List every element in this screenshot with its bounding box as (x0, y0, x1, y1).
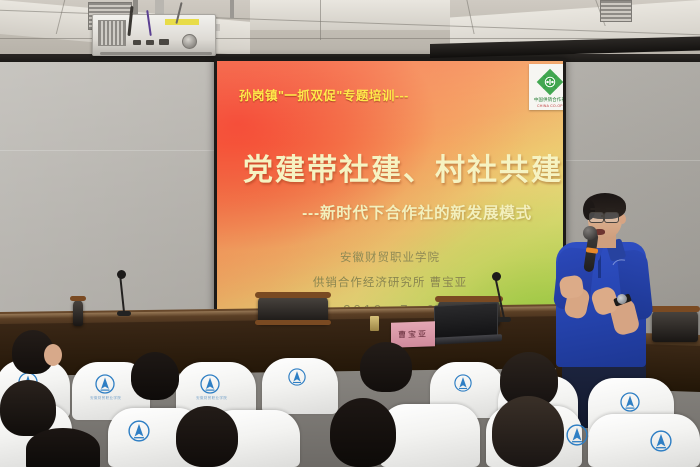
university-emblem-icon (200, 374, 220, 394)
university-emblem-icon (128, 420, 150, 442)
projector-vent-grill (98, 20, 126, 46)
table-chair-frame (255, 320, 331, 325)
attendee-head (0, 380, 56, 436)
ceiling-panel (250, 0, 450, 30)
attendee-head (176, 406, 238, 467)
logo-english-text: CHINA CO-OP (529, 104, 563, 108)
attendee-head (360, 342, 412, 392)
university-emblem-icon (566, 424, 588, 446)
projector-bar (100, 52, 212, 55)
conference-room-photo: 孙岗镇"一抓双促"专题培训--- 党建带社建、村社共建 ---新时代下合作社的新… (0, 0, 700, 467)
slide-title-text: 党建带社建、村社共建 (243, 145, 543, 189)
projector-port (159, 39, 169, 45)
projector-lens (182, 34, 197, 49)
mic-capsule (117, 270, 126, 279)
table-chair-frame (435, 296, 503, 302)
attendee-head (492, 396, 564, 467)
ceiling-bracket (230, 0, 234, 18)
wall-seam (0, 150, 215, 151)
eyeglasses-lens-left (589, 212, 604, 223)
slide-department-text: 供销合作经济研究所 曹宝亚 (217, 274, 563, 290)
chair-cover (262, 358, 338, 414)
attendee-face (44, 344, 62, 366)
projector-label (165, 19, 199, 25)
chair-cover (588, 414, 700, 467)
china-coop-emblem-icon (536, 68, 563, 96)
projector-port (133, 40, 141, 45)
table-chair-frame (70, 296, 86, 301)
attendee-head (26, 428, 100, 467)
eyeglasses-bridge (601, 215, 605, 217)
table-chair-frame (648, 306, 700, 312)
table-chair-frame (255, 292, 331, 298)
eyeglasses-lens-right (604, 212, 619, 223)
ceiling-grid-line (320, 0, 321, 40)
table-chair (73, 300, 83, 326)
attendee-head (131, 352, 179, 400)
university-emblem-icon (650, 430, 672, 452)
slide-header-text: 孙岗镇"一抓双促"专题培训--- (239, 85, 409, 104)
university-emblem-icon (95, 374, 115, 394)
table-chair (652, 310, 698, 342)
slide-subtitle-text: ---新时代下合作社的新发展模式 (277, 201, 557, 223)
university-emblem-icon (288, 368, 306, 386)
university-emblem-icon (454, 374, 472, 392)
logo-chinese-text: 中国供销合作社 (529, 97, 563, 103)
slide-organization-text: 安徽财贸职业学院 (217, 249, 563, 265)
air-vent (600, 0, 632, 22)
mic-capsule (492, 272, 501, 281)
attendee-head (330, 398, 396, 467)
water-cup (370, 316, 379, 331)
china-coop-logo-card: 中国供销合作社 CHINA CO-OP (529, 64, 563, 110)
wall-seam (566, 160, 700, 161)
chair-logo-text: 安徽财贸职业学院 (196, 396, 227, 401)
chair-logo-text: 安徽财贸职业学院 (90, 396, 121, 401)
university-emblem-icon (620, 392, 640, 412)
handheld-microphone-head (583, 226, 597, 240)
projector-port (146, 40, 154, 45)
